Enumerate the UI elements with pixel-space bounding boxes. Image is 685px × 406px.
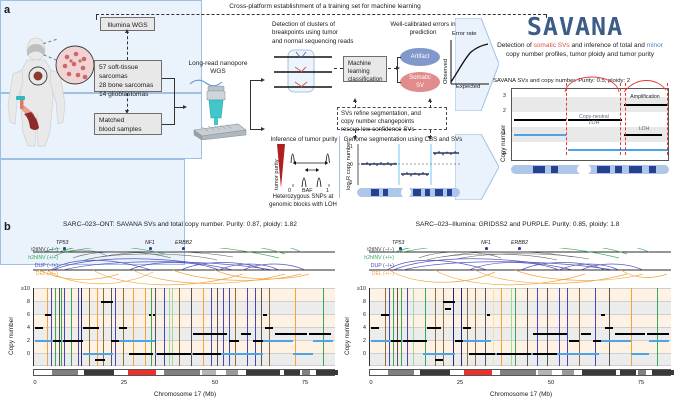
savana-annot-loh: LOH — [626, 126, 662, 133]
left-xtick-25: 25 — [114, 380, 134, 386]
tagline-post: copy number profiles, tumor ploidy and t… — [506, 51, 654, 58]
savana-logo: SAVANA — [500, 14, 650, 39]
left-ytick-8: 8 — [10, 299, 30, 305]
breakpoint-reads-diagram — [272, 48, 334, 94]
savana-example-plot: Copy-neutral LOH LOH Amplification — [511, 88, 669, 161]
right-ytick-8: 8 — [346, 299, 366, 305]
class-branch-vert — [397, 57, 398, 82]
refine-line-1: SVs refine segmentation, and — [341, 110, 443, 118]
left-chromosome-ideogram — [33, 369, 335, 376]
baf-caption: Heterozygous SNPs at genomic blocks with… — [268, 194, 338, 209]
right-ytick-10: ≥10 — [346, 286, 366, 292]
segmentation-ideogram — [357, 188, 460, 197]
seq-to-bottom-arrow — [261, 127, 265, 131]
left-xtick-50: 50 — [205, 380, 225, 386]
cohort-to-seq-line — [162, 78, 174, 79]
panel-a-flow-arrow-bottom — [455, 134, 499, 200]
blood-sample-box: Matched blood samples — [94, 113, 162, 135]
left-sv-arc-region — [33, 248, 335, 288]
tagline-mid: and inference of total and — [570, 42, 647, 49]
savana-sv-arcs — [511, 70, 671, 94]
tagline-minor: minor — [647, 42, 663, 49]
left-xtick-0: 0 — [25, 380, 45, 386]
tagline-somatic: somatic SVs — [534, 42, 570, 49]
savana-annot-amplification: Amplification — [622, 94, 668, 101]
tumor-cells-illustration — [54, 44, 96, 86]
somatic-sv-class-badge: Somatic SV — [400, 72, 440, 92]
reads-to-ml-dash — [334, 68, 343, 69]
savana-ytick-0: 0 — [503, 151, 506, 158]
savana-seg-amp — [624, 104, 668, 106]
left-x-axis-title: Chromosome 17 (Mb) — [100, 391, 270, 398]
refine-line-2: copy number changepoints — [341, 118, 443, 126]
calibration-ylabel: Observed — [443, 59, 449, 84]
class-branch-top — [397, 57, 401, 58]
artifact-class-badge: Artifact — [400, 48, 440, 66]
illumina-wgs-label: Illumina WGS — [107, 22, 147, 29]
blood-to-seq-line — [162, 124, 174, 125]
ml-line-1: Machine — [348, 60, 382, 68]
left-ytick-10: ≥10 — [10, 286, 30, 292]
bp-title-2: breakpoints using tumor — [272, 29, 392, 37]
cnloh-line-2: LOH — [568, 120, 620, 126]
seg-ytick-1: 1 — [350, 144, 353, 150]
seq-to-top-arrow — [261, 78, 265, 82]
cohort-line-1: 57 soft-tissue — [99, 64, 157, 73]
left-cn-plot — [33, 288, 335, 366]
top-dashed-connector — [96, 14, 546, 15]
illumina-arrow-up — [125, 29, 129, 33]
savana-seg-loh — [624, 134, 662, 136]
ml-classification-box: Machine learning classification — [343, 56, 387, 82]
right-cn-plot — [369, 288, 671, 366]
breakpoint-panel-title: Detection of clusters of breakpoints usi… — [272, 21, 392, 46]
refine-line-3: rescue low-confidence SVs — [341, 126, 443, 134]
savana-ytick-2: 2 — [503, 108, 506, 115]
right-xtick-50: 50 — [541, 380, 561, 386]
genome-segmentation-chart — [357, 142, 460, 187]
seq-in-arrow — [183, 105, 187, 109]
baf-caption-2: genomic blocks with LOH — [268, 202, 338, 210]
refine-up-arrow-left — [353, 98, 357, 102]
illumina-to-cohort-dashed — [127, 31, 128, 60]
savana-tagline: Detection of somatic SVs and inference o… — [494, 42, 666, 60]
left-gene-erbb2: ERBB2 — [175, 240, 192, 246]
refine-up-arrow-right — [428, 98, 432, 102]
right-xtick-25: 25 — [450, 380, 470, 386]
top-dashed-left-leg — [96, 14, 97, 20]
savana-seg-normal — [514, 119, 566, 121]
cohort-line-4: 14 glioblastomas — [99, 91, 157, 100]
baf-distribution-chart — [288, 143, 336, 189]
savana-minor-loh — [568, 149, 668, 151]
blood-line-2: blood samples — [99, 126, 157, 135]
blood-line-1: Matched — [99, 117, 157, 126]
cohort-box: 57 soft-tissue sarcomas 28 bone sarcomas… — [94, 60, 162, 92]
left-y-axis-title: Copy number — [8, 317, 15, 355]
ml-line-3: classification — [348, 76, 382, 84]
refine-note-box: SVs refine segmentation, and copy number… — [337, 107, 447, 130]
class-branch-bottom — [397, 82, 401, 83]
artifact-label: Artifact — [411, 54, 430, 60]
ml-line-2: learning — [348, 68, 382, 76]
seg-ytick-m1: -1 — [348, 180, 352, 186]
cohort-line-3: 28 bone sarcomas — [99, 82, 157, 91]
cohort-line-2: sarcomas — [99, 73, 157, 82]
right-plot-title: SARC–023–Illumina: GRIDSS2 and PURPLE. P… — [355, 221, 680, 228]
right-sv-arc-region — [369, 248, 671, 288]
somatic-label-2: SV — [400, 83, 440, 91]
bp-title-3: and normal sequencing reads — [272, 38, 392, 46]
left-gene-nf1: NF1 — [145, 240, 155, 246]
cohort-to-seq-vert — [174, 78, 175, 108]
right-gene-erbb2: ERBB2 — [511, 240, 528, 246]
seg-ytick-0: 0 — [350, 162, 353, 168]
right-gene-tp53: TP53 — [392, 240, 404, 246]
savana-ytick-3: 3 — [503, 93, 506, 100]
savana-minor-normal — [514, 134, 566, 136]
panel-a-top-caption: Cross-platform establishment of a traini… — [150, 3, 500, 11]
right-y-axis-title: Copy number — [344, 317, 351, 355]
right-x-axis-title: Chromosome 17 (Mb) — [436, 391, 606, 398]
calibration-xlabel: Expected — [456, 84, 480, 91]
nanopore-sequencer-illustration — [188, 74, 250, 140]
right-xtick-0: 0 — [361, 380, 381, 386]
purity-gradient-triangle — [276, 144, 286, 188]
left-xtick-75: 75 — [295, 380, 315, 386]
seq-split-vert — [250, 80, 251, 130]
purity-seg-divider — [339, 136, 340, 198]
bp-title-1: Detection of clusters of — [272, 21, 392, 29]
savana-annot-copy-neutral-loh: Copy-neutral LOH — [568, 114, 620, 126]
somatic-label-1: Somatic — [400, 75, 440, 83]
nanopore-line-1: Long-read nanopore — [182, 60, 254, 68]
baf-caption-1: Heterozygous SNPs at — [268, 194, 338, 202]
savana-ytick-1: 1 — [503, 130, 506, 137]
right-gene-nf1: NF1 — [481, 240, 491, 246]
panel-a-letter: a — [4, 5, 10, 16]
calibration-curve-label: Error rate — [452, 31, 476, 38]
panel-b-letter: b — [4, 222, 11, 233]
right-y-axis — [369, 288, 370, 366]
left-y-axis — [33, 288, 34, 366]
left-plot-title: SARC–023–ONT: SAVANA SVs and total copy … — [20, 221, 340, 228]
left-gene-tp53: TP53 — [56, 240, 68, 246]
right-xtick-75: 75 — [631, 380, 651, 386]
savana-ideogram — [511, 165, 669, 174]
tagline-pre: Detection of — [497, 42, 534, 49]
right-chromosome-ideogram — [369, 369, 671, 376]
blood-to-seq-vert — [174, 107, 175, 125]
